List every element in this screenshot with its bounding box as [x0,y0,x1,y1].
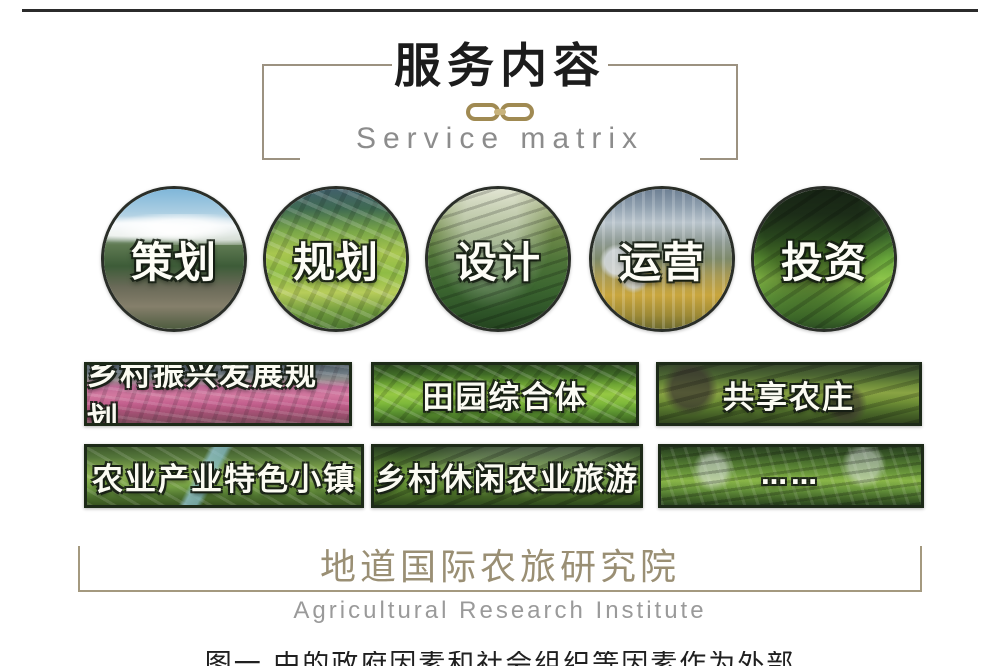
banner-more-ellipsis[interactable]: …… [658,444,924,508]
banner-rural-revitalization[interactable]: 乡村振兴发展规划 [84,362,352,426]
service-circle-label: 规划 [266,189,406,329]
service-circle-investment[interactable]: 投资 [751,186,897,332]
banner-label: …… [661,447,921,505]
banner-shared-farm[interactable]: 共享农庄 [656,362,922,426]
banner-label: 乡村休闲农业旅游 [374,447,640,505]
service-circle-label: 运营 [592,189,732,329]
banner-label: 农业产业特色小镇 [87,447,361,505]
banner-label: 田园综合体 [374,365,636,423]
service-circle-planning[interactable]: 策划 [101,186,247,332]
service-circles-row: 策划 规划 设计 运营 投资 [0,186,1000,336]
service-circle-operation[interactable]: 运营 [589,186,735,332]
banner-rural-tourism[interactable]: 乡村休闲农业旅游 [371,444,643,508]
service-circle-label: 投资 [754,189,894,329]
banner-label: 共享农庄 [659,365,919,423]
page-title-cn: 服务内容 [0,38,1000,96]
service-circle-label: 设计 [428,189,568,329]
banner-rural-complex[interactable]: 田园综合体 [371,362,639,426]
cutoff-body-text-value: 图一 中的政府因素和社会组织等因素作为外部 [205,651,796,666]
institute-name-cn: 地道国际农旅研究院 [0,538,1000,590]
cutoff-body-text: 图一 中的政府因素和社会组织等因素作为外部 [0,651,1000,666]
top-divider-rule [22,9,978,12]
service-circle-label: 策划 [104,189,244,329]
service-circle-programming[interactable]: 规划 [263,186,409,332]
institute-name-en: Agricultural Research Institute [0,597,1000,625]
service-circle-design[interactable]: 设计 [425,186,571,332]
banner-agri-town[interactable]: 农业产业特色小镇 [84,444,364,508]
page-subtitle-en: Service matrix [0,122,1000,156]
header-section: 服务内容 Service matrix [0,38,1000,168]
footer-bracket-bottom [78,590,922,592]
banner-label: 乡村振兴发展规划 [87,365,349,423]
service-banners-grid: 乡村振兴发展规划 田园综合体 共享农庄 农业产业特色小镇 乡村休闲农业旅游 …… [0,358,1000,518]
poster-root: 服务内容 Service matrix 策划 规划 设计 [0,0,1000,666]
